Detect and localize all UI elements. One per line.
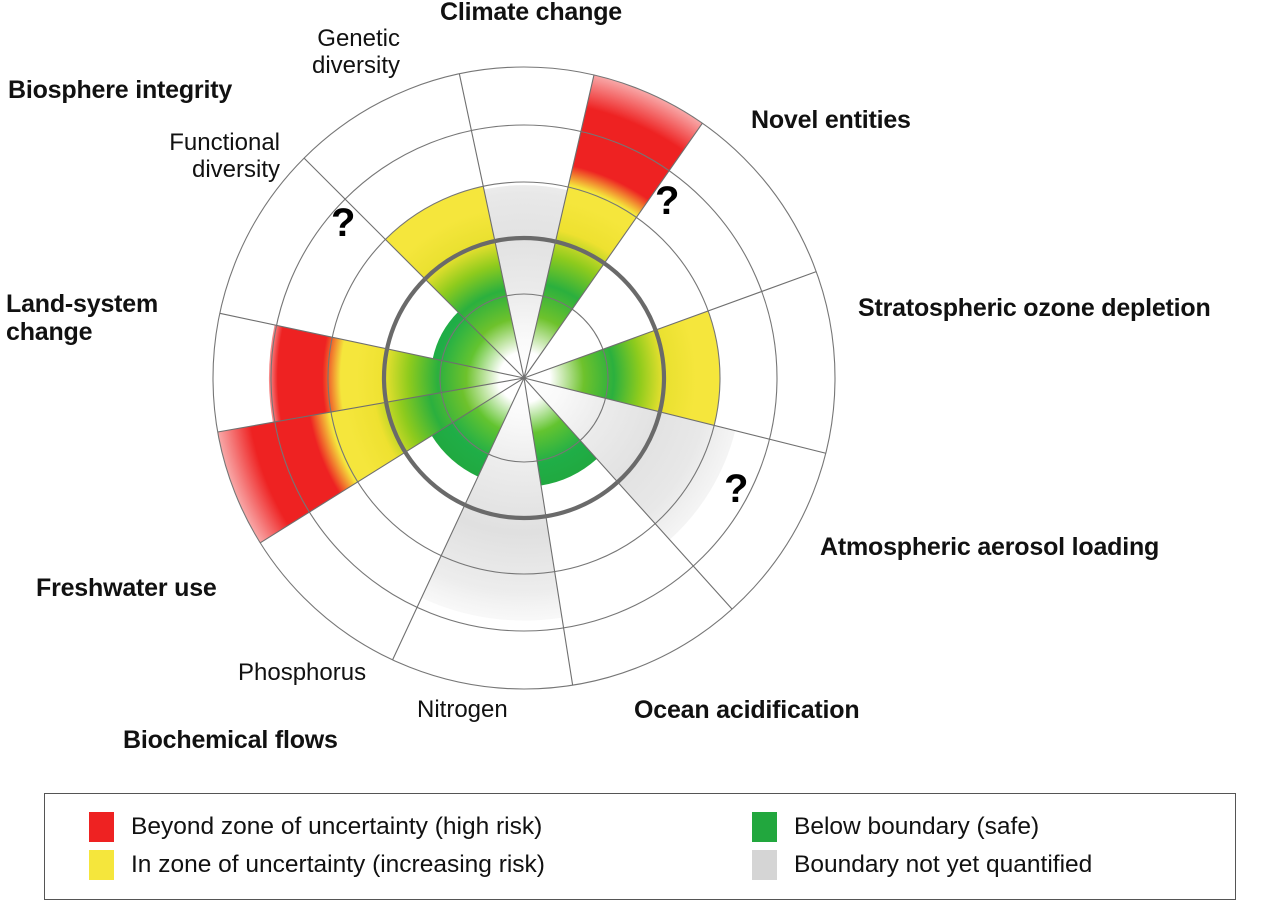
- legend-label-high-risk: Beyond zone of uncertainty (high risk): [131, 813, 542, 841]
- legend-label-safe: Below boundary (safe): [794, 813, 1039, 841]
- label-atmospheric-aerosol-loading: Atmospheric aerosol loading: [820, 533, 1159, 561]
- label-functional-diversity: Functional diversity: [148, 130, 280, 184]
- legend-column-right: Below boundary (safe) Boundary not yet q…: [752, 808, 1092, 884]
- legend-column-left: Beyond zone of uncertainty (high risk) I…: [89, 808, 545, 884]
- label-ocean-acidification: Ocean acidification: [634, 696, 859, 724]
- legend-swatch-high-risk: [89, 812, 114, 842]
- label-phosphorus: Phosphorus: [238, 660, 366, 687]
- label-freshwater-use: Freshwater use: [36, 574, 217, 602]
- legend-label-not-quantified: Boundary not yet quantified: [794, 851, 1092, 879]
- legend: Beyond zone of uncertainty (high risk) I…: [44, 793, 1236, 900]
- question-mark-functional-diversity: ?: [331, 203, 355, 243]
- legend-item-high-risk: Beyond zone of uncertainty (high risk): [89, 808, 545, 846]
- legend-label-uncertainty: In zone of uncertainty (increasing risk): [131, 851, 545, 879]
- planetary-boundaries-figure: Climate change Biosphere integrity Genet…: [0, 0, 1280, 913]
- label-climate-change: Climate change: [440, 0, 622, 26]
- label-land-system-change: Land-system change: [6, 290, 158, 346]
- label-novel-entities: Novel entities: [751, 106, 911, 134]
- label-stratospheric-ozone-depletion: Stratospheric ozone depletion: [858, 294, 1211, 322]
- label-nitrogen: Nitrogen: [417, 697, 508, 724]
- legend-swatch-not-quantified: [752, 850, 777, 880]
- legend-item-uncertainty: In zone of uncertainty (increasing risk): [89, 846, 545, 884]
- label-genetic-diversity: Genetic diversity: [292, 26, 400, 80]
- legend-item-safe: Below boundary (safe): [752, 808, 1092, 846]
- legend-item-not-quantified: Boundary not yet quantified: [752, 846, 1092, 884]
- legend-swatch-safe: [752, 812, 777, 842]
- label-biochemical-flows: Biochemical flows: [123, 726, 338, 754]
- legend-swatch-uncertainty: [89, 850, 114, 880]
- label-biosphere-integrity: Biosphere integrity: [8, 76, 232, 104]
- question-mark-novel-entities: ?: [655, 181, 679, 221]
- question-mark-aerosol-loading: ?: [724, 469, 748, 509]
